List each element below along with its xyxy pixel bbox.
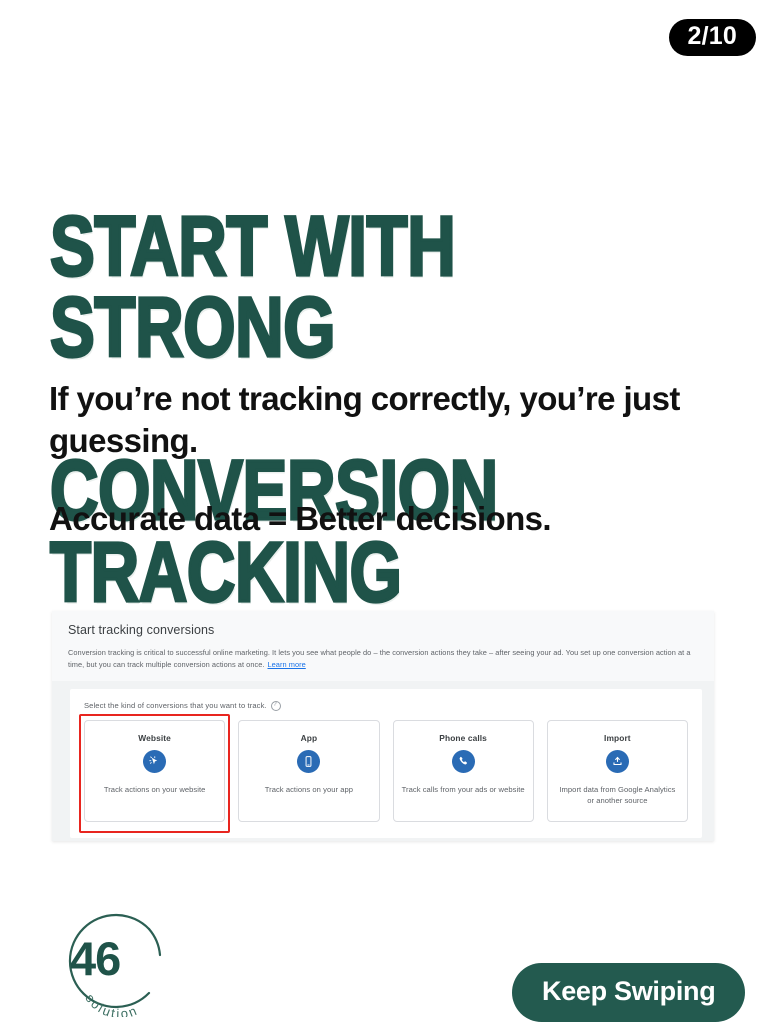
import-upload-icon: [606, 750, 629, 773]
card-description: Track actions on your app: [265, 784, 353, 795]
conversion-card-website[interactable]: Website Track actions on your website: [84, 720, 225, 822]
card-description: Track calls from your ads or website: [402, 784, 525, 795]
carousel-slide: 2/10 START WITH STRONG CONVERSION TRACKI…: [0, 0, 768, 1024]
panel-label-text: Select the kind of conversions that you …: [84, 701, 267, 710]
help-circle-icon[interactable]: [271, 701, 281, 711]
headline-line-1: START WITH STRONG: [50, 206, 578, 369]
card-description: Import data from Google Analytics or ano…: [556, 784, 679, 807]
phone-icon: [452, 750, 475, 773]
card-title: Import: [604, 733, 631, 743]
screenshot-description: Conversion tracking is critical to succe…: [68, 647, 698, 671]
card-title: App: [301, 733, 318, 743]
conversion-card-app[interactable]: App Track actions on your app: [238, 720, 379, 822]
conversion-kind-panel: Select the kind of conversions that you …: [70, 689, 702, 838]
card-description: Track actions on your website: [104, 784, 206, 795]
body-paragraph-1: If you’re not tracking correctly, you’re…: [49, 378, 721, 462]
conversion-card-phone-calls[interactable]: Phone calls Track calls from your ads or…: [393, 720, 534, 822]
screenshot-description-text: Conversion tracking is critical to succe…: [68, 648, 691, 669]
keep-swiping-button[interactable]: Keep Swiping: [512, 963, 745, 1022]
screenshot-header: Start tracking conversions Conversion tr…: [52, 611, 714, 681]
google-ads-screenshot: Start tracking conversions Conversion tr…: [52, 611, 714, 841]
card-title: Website: [138, 733, 171, 743]
body-copy: If you’re not tracking correctly, you’re…: [49, 378, 721, 540]
body-paragraph-2: Accurate data = Better decisions.: [49, 498, 721, 540]
screenshot-title: Start tracking conversions: [68, 623, 698, 638]
panel-label: Select the kind of conversions that you …: [84, 701, 688, 711]
svg-text:46: 46: [70, 932, 120, 985]
brand-logo: 46 solution: [48, 903, 178, 1017]
conversion-card-import[interactable]: Import Import data from Google Analytics…: [547, 720, 688, 822]
conversion-type-cards: Website Track actions on your website Ap…: [84, 720, 688, 822]
learn-more-link[interactable]: Learn more: [267, 660, 305, 669]
mobile-device-icon: [297, 750, 320, 773]
cursor-click-icon: [143, 750, 166, 773]
page-counter-badge: 2/10: [669, 19, 756, 56]
card-title: Phone calls: [439, 733, 487, 743]
svg-text:solution: solution: [82, 991, 140, 1017]
